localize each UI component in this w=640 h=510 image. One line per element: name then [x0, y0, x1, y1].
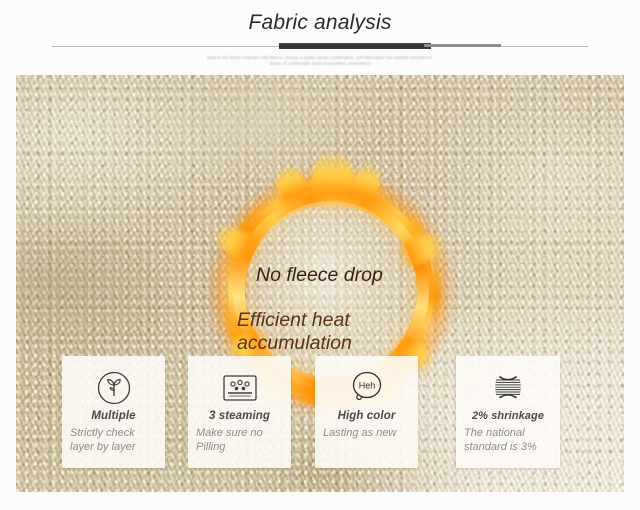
feature-card-title: 2% shrinkage: [464, 410, 552, 422]
header-divider-bar: [279, 43, 431, 49]
feature-card-title: High color: [323, 410, 410, 422]
feature-card-desc: Lasting as new: [323, 427, 410, 441]
header-subtitle: Selects the finest materials with fabric…: [0, 55, 640, 66]
sprout-in-circle-icon: [70, 368, 157, 408]
steamer-bubbles-icon: [196, 368, 283, 408]
feature-card-title: 3 steaming: [196, 410, 283, 422]
feature-cards: Multiple Strictly check layer by layer: [16, 75, 624, 492]
color-swatch-circle-icon: Heh: [323, 368, 410, 408]
feature-card-shrinkage[interactable]: 2% shrinkage The national standard is 3%: [456, 356, 560, 468]
feature-card-desc: Strictly check layer by layer: [70, 427, 157, 454]
page-title: Fabric analysis: [0, 11, 640, 35]
page-root: Fabric analysis Selects the finest mater…: [0, 0, 640, 510]
fabric-shrinkage-icon: [464, 368, 552, 408]
feature-card-desc: Make sure no Pilling: [196, 427, 283, 454]
page-header: Fabric analysis Selects the finest mater…: [0, 0, 640, 72]
header-divider-bar-tip: [424, 44, 501, 47]
feature-card-title: Multiple: [70, 410, 157, 422]
feature-card-high-color[interactable]: Heh High color Lasting as new: [315, 356, 418, 468]
feature-card-desc: The national standard is 3%: [464, 427, 552, 454]
feature-card-steaming[interactable]: 3 steaming Make sure no Pilling: [188, 356, 291, 468]
fabric-photo: No fleece drop Efficient heat accumulati…: [16, 75, 624, 492]
color-swatch-label: Heh: [358, 381, 375, 391]
feature-card-multiple[interactable]: Multiple Strictly check layer by layer: [62, 356, 165, 468]
